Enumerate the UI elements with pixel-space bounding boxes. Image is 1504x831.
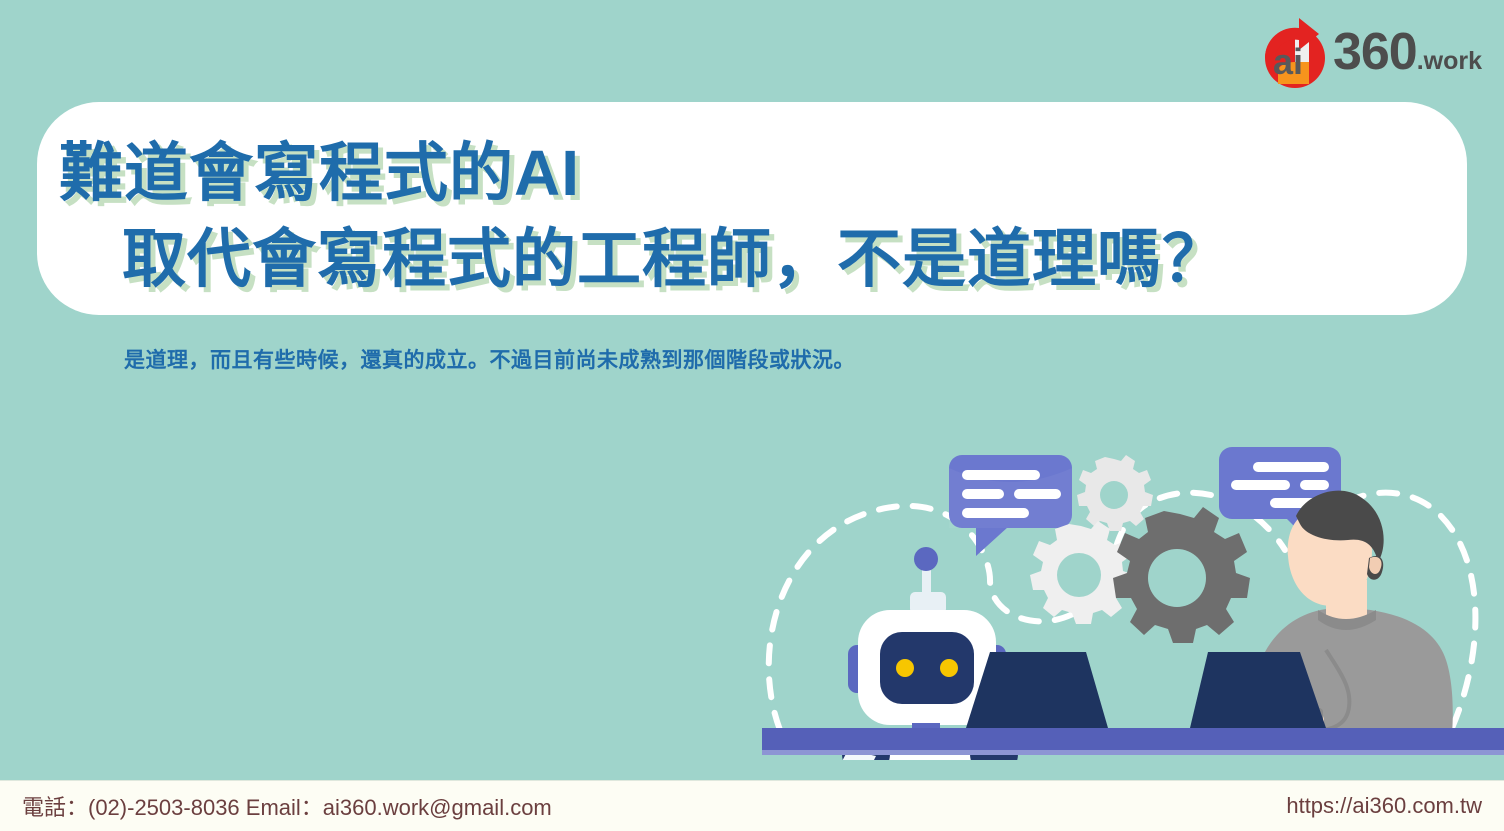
title-line-1: 難道會寫程式的AI bbox=[59, 122, 580, 214]
footer-bar: 電話：(02)-2503-8036 Email：ai360.work@gmail… bbox=[0, 780, 1504, 831]
footer-contact: 電話：(02)-2503-8036 Email：ai360.work@gmail… bbox=[22, 790, 552, 822]
gear-large-dark bbox=[1113, 507, 1250, 643]
logo-suffix: .work bbox=[1417, 49, 1482, 74]
antenna-tip-icon bbox=[914, 547, 938, 571]
desk-surface bbox=[762, 728, 1504, 750]
svg-text:ai: ai bbox=[1273, 41, 1303, 82]
speech-bubble-left bbox=[949, 455, 1072, 556]
logo-wordmark: 360.work bbox=[1333, 26, 1482, 78]
subtitle-text: 是道理，而且有些時候，還真的成立。不過目前尚未成熟到那個階段或狀況。 bbox=[124, 344, 855, 374]
gear-small-light bbox=[1077, 455, 1153, 531]
footer-website[interactable]: https://ai360.com.tw bbox=[1286, 793, 1482, 819]
ai-circle-arrow-icon: ai bbox=[1253, 14, 1337, 90]
brand-logo[interactable]: ai 360.work bbox=[1253, 14, 1482, 90]
title-line-2: 取代會寫程式的工程師，不是道理嗎？ bbox=[122, 208, 1227, 300]
robot-eye-left-icon bbox=[896, 659, 914, 677]
slide-canvas: ai 360.work 難道會寫程式的AI 取代會寫程式的工程師，不是道理嗎？ … bbox=[0, 0, 1504, 831]
robot-eye-right-icon bbox=[940, 659, 958, 677]
desk-edge bbox=[762, 750, 1504, 755]
title-card: 難道會寫程式的AI 取代會寫程式的工程師，不是道理嗎？ bbox=[37, 102, 1467, 315]
logo-number: 360 bbox=[1333, 26, 1417, 78]
illustration-robot-and-developer bbox=[740, 420, 1504, 760]
